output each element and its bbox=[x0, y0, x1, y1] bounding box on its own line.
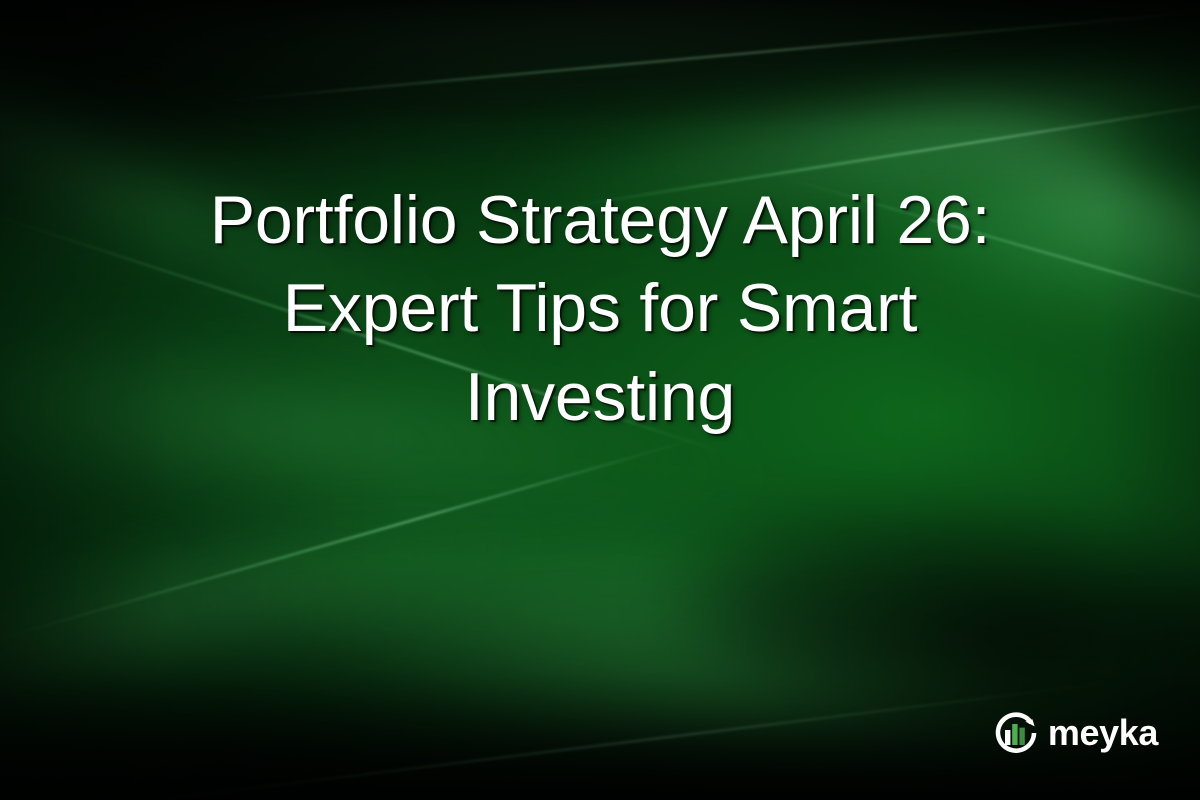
meyka-wordmark: meyka bbox=[1048, 715, 1158, 751]
title-line-2: Expert Tips for Smart bbox=[40, 264, 1160, 352]
meyka-logo[interactable]: meyka bbox=[991, 708, 1158, 758]
wave-ribbon-bottom-left bbox=[0, 412, 650, 800]
banner-title: Portfolio Strategy April 26: Expert Tips… bbox=[0, 176, 1200, 441]
article-banner: Portfolio Strategy April 26: Expert Tips… bbox=[0, 0, 1200, 800]
meyka-circular-bar-chart-icon bbox=[991, 708, 1041, 758]
wave-filament-left-cross-two bbox=[0, 435, 706, 646]
title-line-1: Portfolio Strategy April 26: bbox=[40, 176, 1160, 264]
wave-ribbon-bottom-sweep bbox=[71, 531, 1200, 800]
wave-filament-top bbox=[222, 4, 1200, 102]
wave-filament-bottom-arc bbox=[124, 681, 1117, 800]
title-line-3: Investing bbox=[40, 353, 1160, 441]
wave-ribbon-top-arc bbox=[0, 0, 1200, 197]
